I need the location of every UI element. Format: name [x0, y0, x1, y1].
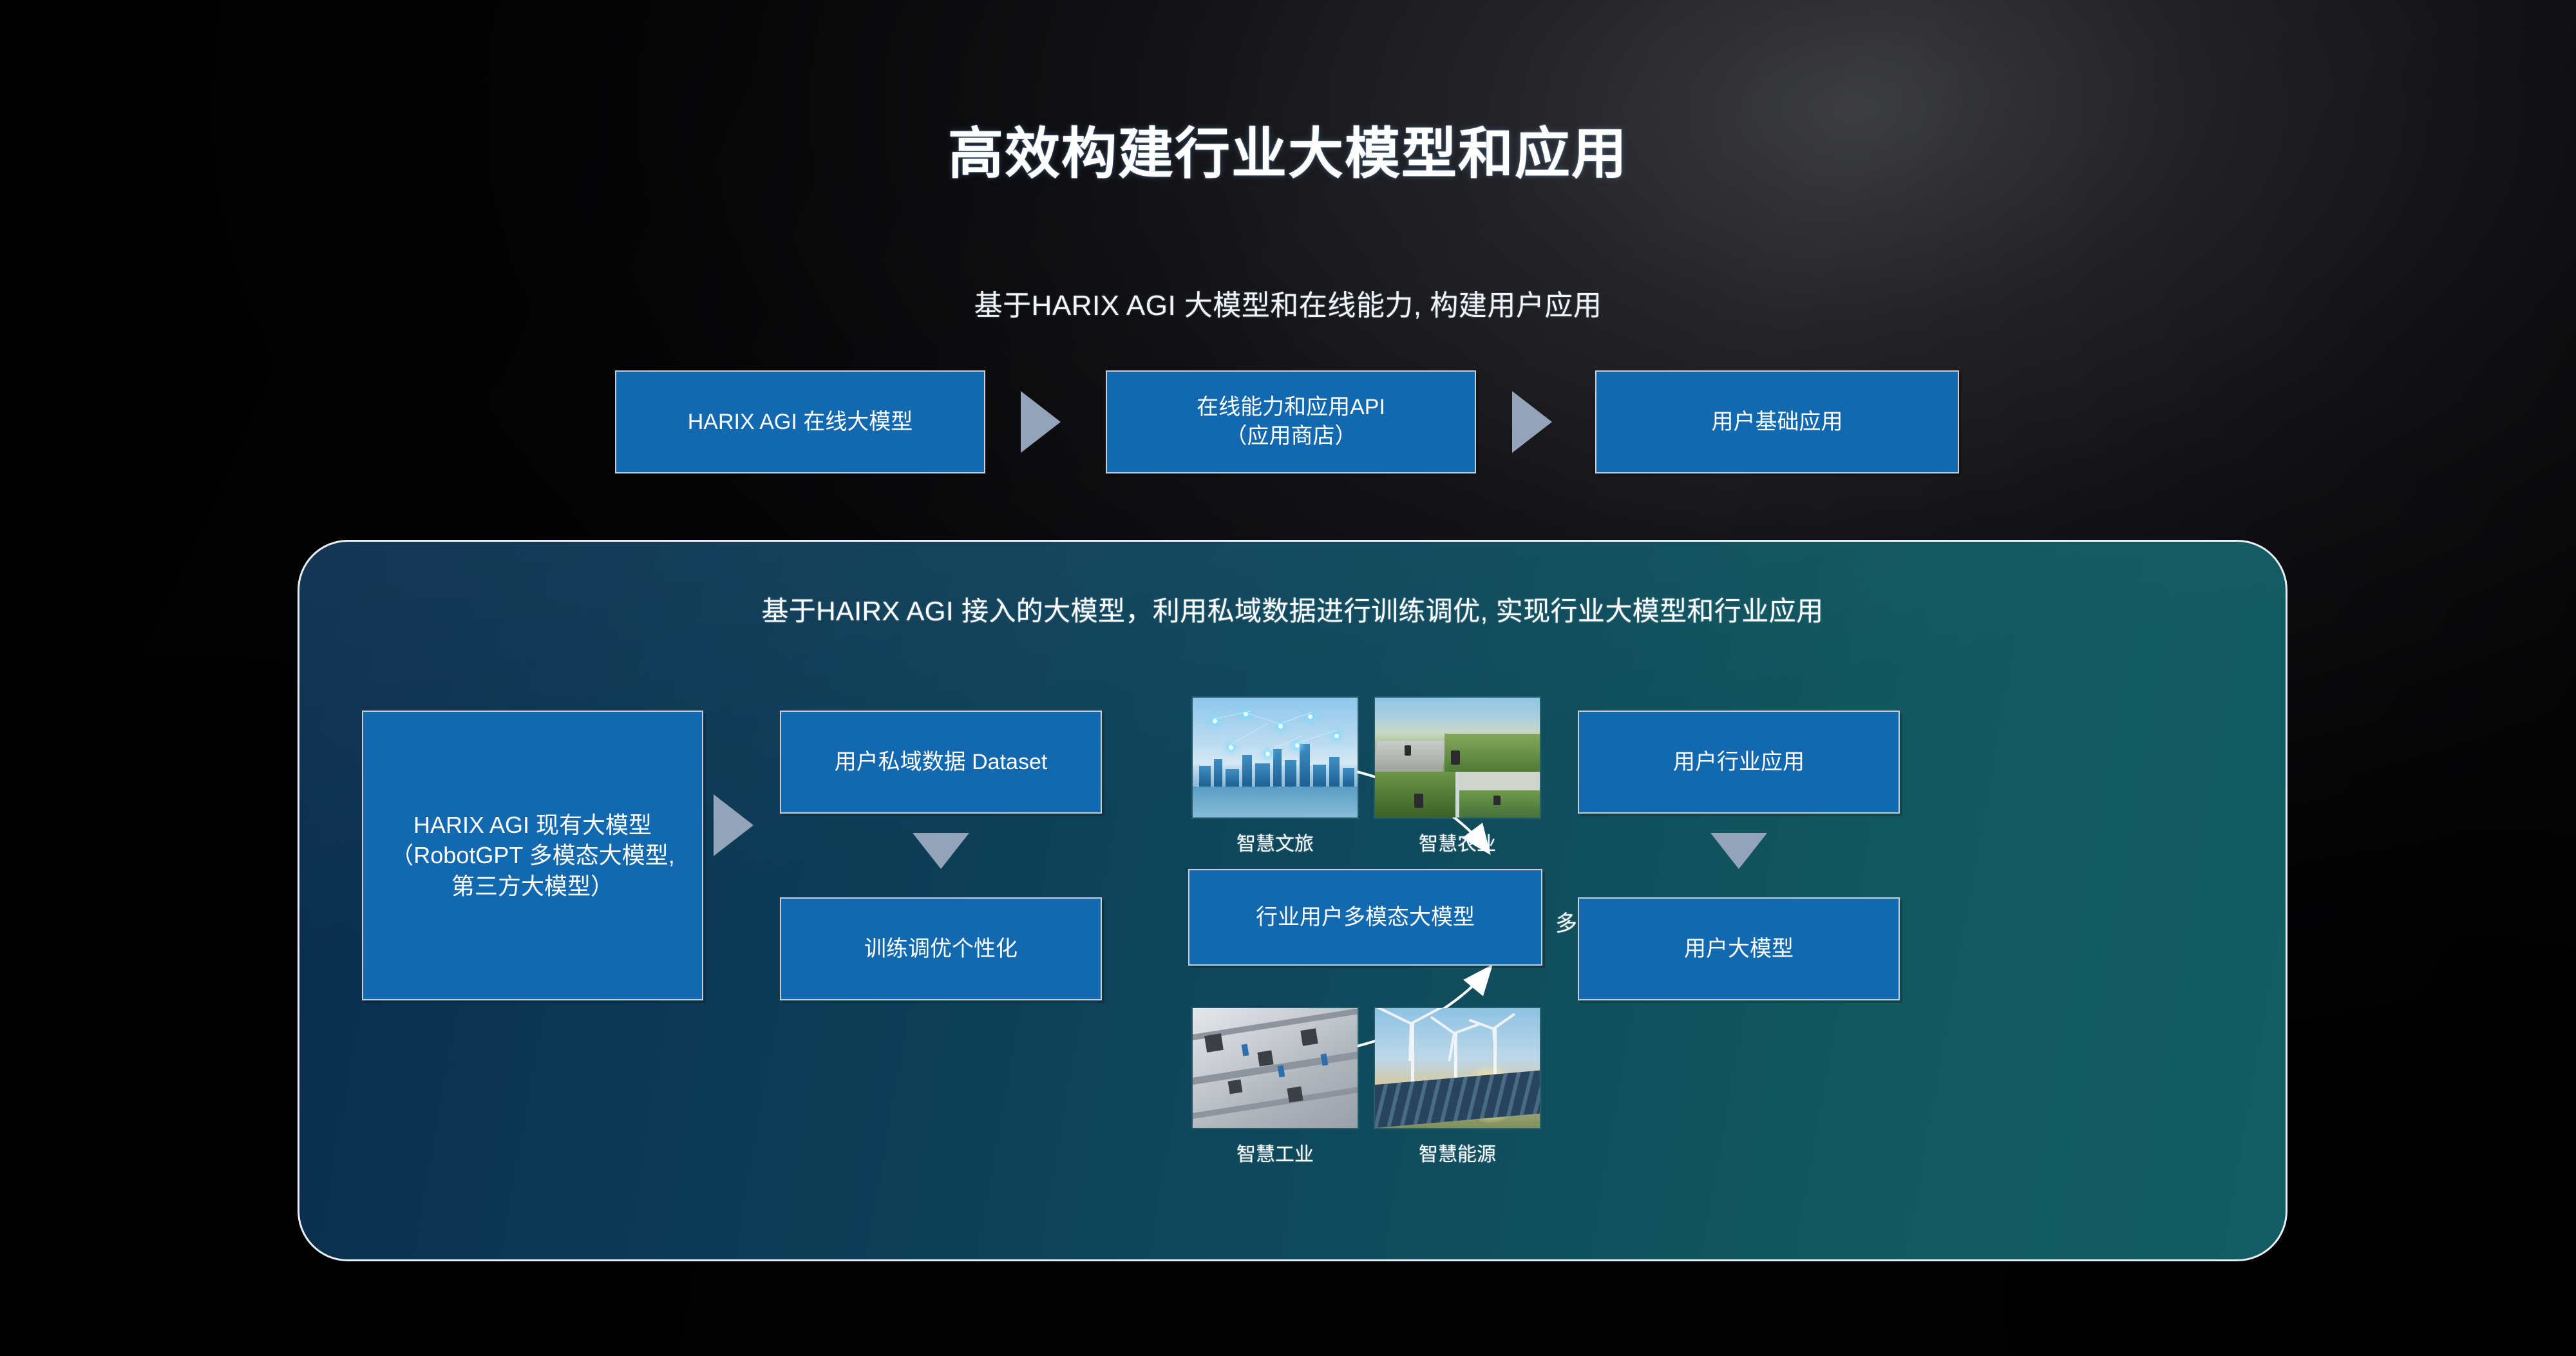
panel-user-app-box[interactable]: 用户行业应用	[1578, 711, 1900, 814]
smart-energy-caption: 智慧能源	[1374, 1138, 1541, 1167]
triangle-down-icon	[913, 833, 969, 869]
top-flow-step-1[interactable]: HARIX AGI 在线大模型	[615, 370, 985, 473]
panel-industry-model-box-label: 行业用户多模态大模型	[1198, 903, 1532, 932]
main-panel: 基于HAIRX AGI 接入的大模型，利用私域数据进行训练调优, 实现行业大模型…	[298, 540, 2287, 1261]
panel-training-box-label: 训练调优个性化	[790, 935, 1092, 964]
page-title: 高效构建行业大模型和应用	[0, 108, 2576, 189]
panel-left-box[interactable]: HARIX AGI 现有大模型 （RobotGPT 多模态大模型, 第三方大模型…	[362, 711, 703, 1000]
smart-industry-artwork	[1193, 1008, 1358, 1128]
triangle-right-icon	[714, 794, 753, 856]
smart-agriculture-image	[1374, 696, 1541, 819]
smart-energy-image	[1374, 1007, 1541, 1129]
top-flow-step-1-label: HARIX AGI 在线大模型	[625, 408, 975, 437]
panel-dataset-box[interactable]: 用户私域数据 Dataset	[780, 711, 1102, 814]
panel-user-app-box-label: 用户行业应用	[1588, 748, 1889, 777]
top-flow-step-3[interactable]: 用户基础应用	[1595, 370, 1959, 473]
top-flow-step-2[interactable]: 在线能力和应用API （应用商店）	[1106, 370, 1476, 473]
smart-energy-artwork	[1375, 1008, 1540, 1128]
panel-user-model-box[interactable]: 用户大模型	[1578, 897, 1900, 1000]
smart-city-image	[1191, 696, 1359, 819]
subtitle: 基于HARIX AGI 大模型和在线能力, 构建用户应用	[0, 282, 2576, 323]
panel-left-box-line2: （RobotGPT 多模态大模型,	[372, 840, 693, 871]
panel-training-box[interactable]: 训练调优个性化	[780, 897, 1102, 1000]
smart-city-artwork	[1193, 698, 1358, 817]
triangle-right-icon	[1512, 391, 1552, 453]
top-flow-step-2-label-line1: 在线能力和应用API	[1116, 393, 1466, 422]
smart-city-caption: 智慧文旅	[1191, 828, 1359, 856]
smart-agriculture-caption: 智慧农业	[1374, 828, 1541, 856]
panel-user-model-box-label: 用户大模型	[1588, 935, 1889, 964]
panel-heading: 基于HAIRX AGI 接入的大模型，利用私域数据进行训练调优, 实现行业大模型…	[299, 589, 2286, 629]
top-flow-step-2-label-line2: （应用商店）	[1116, 422, 1466, 451]
smart-industry-image	[1191, 1007, 1359, 1129]
smart-agriculture-artwork	[1375, 698, 1540, 817]
smart-industry-caption: 智慧工业	[1191, 1138, 1359, 1167]
triangle-down-icon	[1710, 833, 1767, 869]
panel-industry-model-box[interactable]: 行业用户多模态大模型	[1188, 869, 1542, 966]
top-flow-step-3-label: 用户基础应用	[1605, 408, 1949, 437]
panel-left-box-line1: HARIX AGI 现有大模型	[372, 810, 693, 841]
panel-dataset-box-label: 用户私域数据 Dataset	[790, 748, 1092, 777]
panel-left-box-line3: 第三方大模型）	[372, 871, 693, 902]
triangle-right-icon	[1021, 391, 1061, 453]
